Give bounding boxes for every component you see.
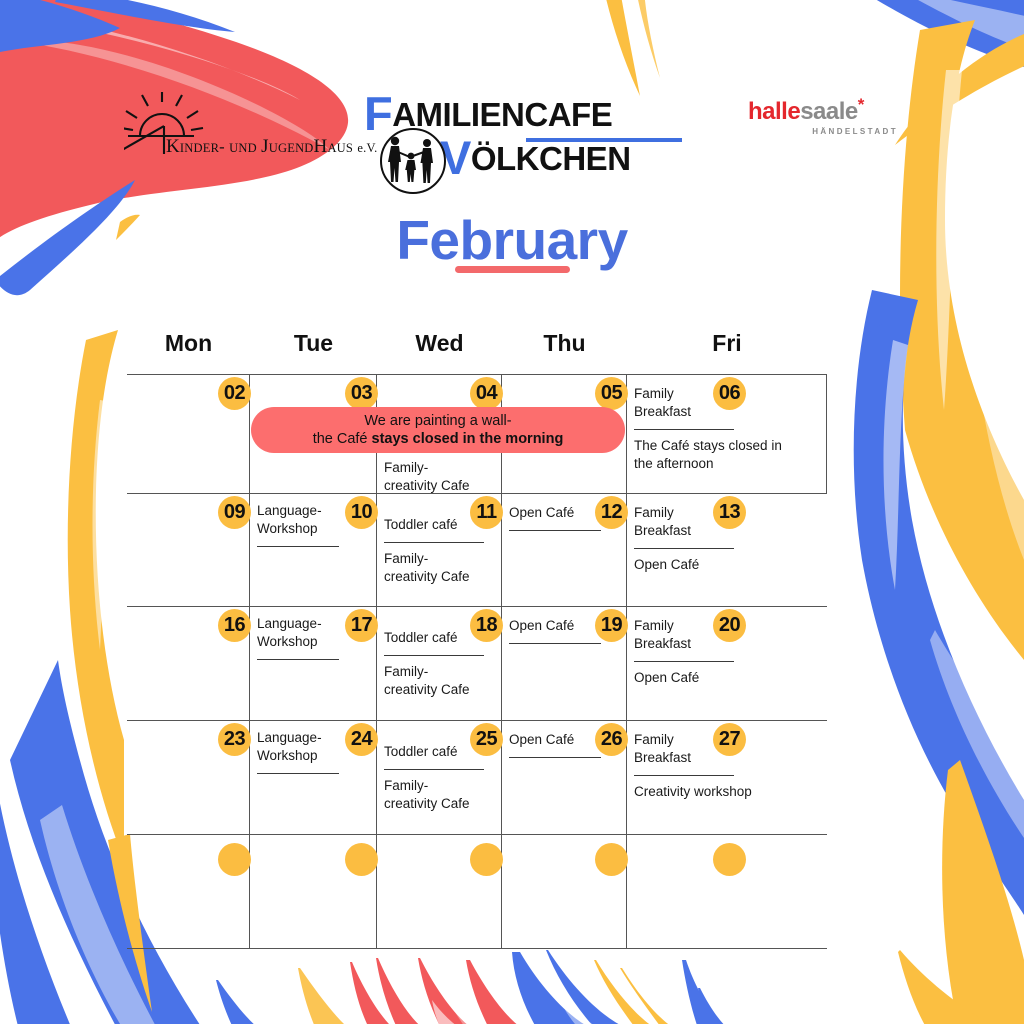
familiencafe-voelkchen-logo: FAMILIENCAFE VÖLKCHEN bbox=[356, 92, 656, 192]
day-number-badge: 20 bbox=[713, 609, 746, 642]
event-text: Language- bbox=[257, 502, 334, 520]
event-text: Family bbox=[634, 385, 712, 403]
day-cell-06[interactable]: 06 Family Breakfast The Café stays close… bbox=[627, 375, 827, 493]
haendelstadt-subtitle: HÄNDELSTADT bbox=[748, 127, 898, 136]
kinder-und-jugendhaus-logo: KINDER- UND JUGENDHAUS e.V. bbox=[124, 92, 354, 164]
event-text: Family- bbox=[384, 459, 495, 477]
event-separator bbox=[634, 661, 734, 662]
event-text: creativity Cafe bbox=[384, 477, 495, 495]
event-text: Open Café bbox=[509, 617, 584, 635]
halle-text: halle bbox=[748, 98, 800, 125]
weekday-header-row: Mon Tue Wed Thu Fri bbox=[127, 330, 827, 374]
day-cell-18[interactable]: 18 Toddler café Family- creativity Cafe bbox=[377, 607, 502, 720]
weekday-mon: Mon bbox=[127, 330, 250, 374]
hallesaale-city-logo: hallesaale* HÄNDELSTADT bbox=[748, 96, 898, 140]
event-separator bbox=[634, 548, 734, 549]
day-number-badge: 10 bbox=[345, 496, 378, 529]
event-text: Open Café bbox=[634, 556, 821, 574]
brand-line-1-rest: AMILIENCAFE bbox=[392, 96, 612, 133]
day-number-badge: 23 bbox=[218, 723, 251, 756]
weekday-tue: Tue bbox=[250, 330, 377, 374]
day-number-badge-empty bbox=[595, 843, 628, 876]
event-separator bbox=[509, 643, 601, 644]
day-number-badge: 03 bbox=[345, 377, 378, 410]
event-separator bbox=[384, 655, 484, 656]
day-number-badge: 26 bbox=[595, 723, 628, 756]
weekday-wed: Wed bbox=[377, 330, 502, 374]
event-text: Family- bbox=[384, 663, 495, 681]
month-title: February bbox=[0, 208, 1024, 272]
weekday-thu: Thu bbox=[502, 330, 627, 374]
day-cell-25[interactable]: 25 Toddler café Family- creativity Cafe bbox=[377, 721, 502, 834]
event-text: creativity Cafe bbox=[384, 681, 495, 699]
day-number-badge: 19 bbox=[595, 609, 628, 642]
day-number-badge-empty bbox=[345, 843, 378, 876]
event-text: Breakfast bbox=[634, 522, 712, 540]
day-number-badge: 24 bbox=[345, 723, 378, 756]
event-text: Language- bbox=[257, 615, 334, 633]
day-cell-20[interactable]: 20 Family Breakfast Open Café bbox=[627, 607, 827, 720]
day-number-badge: 12 bbox=[595, 496, 628, 529]
brand-f-initial: F bbox=[364, 87, 392, 140]
day-cell-17[interactable]: 17 Language- Workshop bbox=[250, 607, 377, 720]
calendar: Mon Tue Wed Thu Fri 02 03 04 Family- cre bbox=[127, 330, 827, 949]
calendar-week-row: 16 17 Language- Workshop 18 Toddler café bbox=[127, 607, 827, 721]
day-cell-02[interactable]: 02 bbox=[127, 375, 250, 493]
day-cell-empty-fri[interactable] bbox=[627, 835, 827, 948]
event-text: Open Café bbox=[634, 669, 821, 687]
calendar-week-row: 09 10 Language- Workshop 11 Toddler café bbox=[127, 494, 827, 607]
day-cell-empty-mon[interactable] bbox=[127, 835, 250, 948]
day-cell-16[interactable]: 16 bbox=[127, 607, 250, 720]
day-cell-23[interactable]: 23 bbox=[127, 721, 250, 834]
day-number-badge: 04 bbox=[470, 377, 503, 410]
day-cell-26[interactable]: 26 Open Café bbox=[502, 721, 627, 834]
event-text: Workshop bbox=[257, 520, 334, 538]
event-text: Breakfast bbox=[634, 635, 712, 653]
brand-line-2: VÖLKCHEN bbox=[440, 134, 631, 181]
event-text: Workshop bbox=[257, 633, 334, 651]
banner-line-2-normal: the Café bbox=[313, 431, 372, 447]
event-text: Open Café bbox=[509, 504, 584, 522]
event-text: Breakfast bbox=[634, 749, 712, 767]
day-cell-empty-thu[interactable] bbox=[502, 835, 627, 948]
day-cell-12[interactable]: 12 Open Café bbox=[502, 494, 627, 606]
day-number-badge: 25 bbox=[470, 723, 503, 756]
event-separator bbox=[384, 769, 484, 770]
event-text: Family bbox=[634, 504, 712, 522]
closure-banner: We are painting a wall- the Café stays c… bbox=[251, 407, 625, 453]
month-underline-stroke bbox=[455, 266, 570, 273]
hallesaale-wordmark: hallesaale* bbox=[748, 96, 898, 124]
day-cell-27[interactable]: 27 Family Breakfast Creativity workshop bbox=[627, 721, 827, 834]
event-text: Workshop bbox=[257, 747, 334, 765]
event-separator bbox=[634, 775, 734, 776]
event-separator bbox=[257, 659, 339, 660]
event-separator bbox=[257, 773, 339, 774]
day-number-badge: 06 bbox=[713, 377, 746, 410]
event-text: Breakfast bbox=[634, 403, 712, 421]
weekday-fri: Fri bbox=[627, 330, 827, 374]
day-number-badge: 09 bbox=[218, 496, 251, 529]
asterisk-icon: * bbox=[858, 95, 864, 114]
calendar-grid: 02 03 04 Family- creativity Cafe 05 06 bbox=[127, 374, 827, 949]
day-number-badge: 16 bbox=[218, 609, 251, 642]
event-text: Family bbox=[634, 617, 712, 635]
event-text: The Café stays closed in bbox=[634, 437, 820, 455]
day-cell-13[interactable]: 13 Family Breakfast Open Café bbox=[627, 494, 827, 606]
day-number-badge-empty bbox=[470, 843, 503, 876]
day-number-badge-empty bbox=[218, 843, 251, 876]
banner-line-1: We are painting a wall- bbox=[364, 412, 511, 430]
day-cell-11[interactable]: 11 Toddler café Family- creativity Cafe bbox=[377, 494, 502, 606]
day-cell-24[interactable]: 24 Language- Workshop bbox=[250, 721, 377, 834]
family-figures-icon bbox=[380, 128, 446, 194]
calendar-week-row: 02 03 04 Family- creativity Cafe 05 06 bbox=[127, 375, 827, 494]
day-number-badge: 13 bbox=[713, 496, 746, 529]
day-number-badge: 17 bbox=[345, 609, 378, 642]
day-number-badge-empty bbox=[713, 843, 746, 876]
calendar-week-row: 23 24 Language- Workshop 25 Toddler café bbox=[127, 721, 827, 835]
day-number-badge: 11 bbox=[470, 496, 503, 529]
day-cell-19[interactable]: 19 Open Café bbox=[502, 607, 627, 720]
saale-text: saale bbox=[800, 98, 858, 125]
event-text: Family- bbox=[384, 550, 495, 568]
day-number-badge: 18 bbox=[470, 609, 503, 642]
org-name-text: KINDER- UND JUGENDHAUS e.V. bbox=[166, 136, 377, 158]
day-cell-09[interactable]: 09 bbox=[127, 494, 250, 606]
event-separator bbox=[384, 542, 484, 543]
day-number-badge: 05 bbox=[595, 377, 628, 410]
banner-line-2: the Café stays closed in the morning bbox=[313, 430, 564, 448]
event-text: Language- bbox=[257, 729, 334, 747]
event-text: Family bbox=[634, 731, 712, 749]
poster-canvas: KINDER- UND JUGENDHAUS e.V. FAMILIENCAFE… bbox=[0, 0, 1024, 1024]
day-number-badge: 27 bbox=[713, 723, 746, 756]
event-text: Family- bbox=[384, 777, 495, 795]
event-separator bbox=[509, 757, 601, 758]
day-cell-empty-wed[interactable] bbox=[377, 835, 502, 948]
calendar-week-row bbox=[127, 835, 827, 949]
event-text: Creativity workshop bbox=[634, 783, 821, 801]
day-cell-empty-tue[interactable] bbox=[250, 835, 377, 948]
banner-line-2-bold: stays closed in the morning bbox=[372, 431, 564, 447]
event-text: Open Café bbox=[509, 731, 584, 749]
day-cell-10[interactable]: 10 Language- Workshop bbox=[250, 494, 377, 606]
event-separator bbox=[634, 429, 734, 430]
day-number-badge: 02 bbox=[218, 377, 251, 410]
event-text: creativity Cafe bbox=[384, 795, 495, 813]
event-separator bbox=[257, 546, 339, 547]
event-text: creativity Cafe bbox=[384, 568, 495, 586]
event-text: the afternoon bbox=[634, 455, 820, 473]
brand-line-2-rest: ÖLKCHEN bbox=[471, 140, 631, 177]
event-separator bbox=[509, 530, 601, 531]
